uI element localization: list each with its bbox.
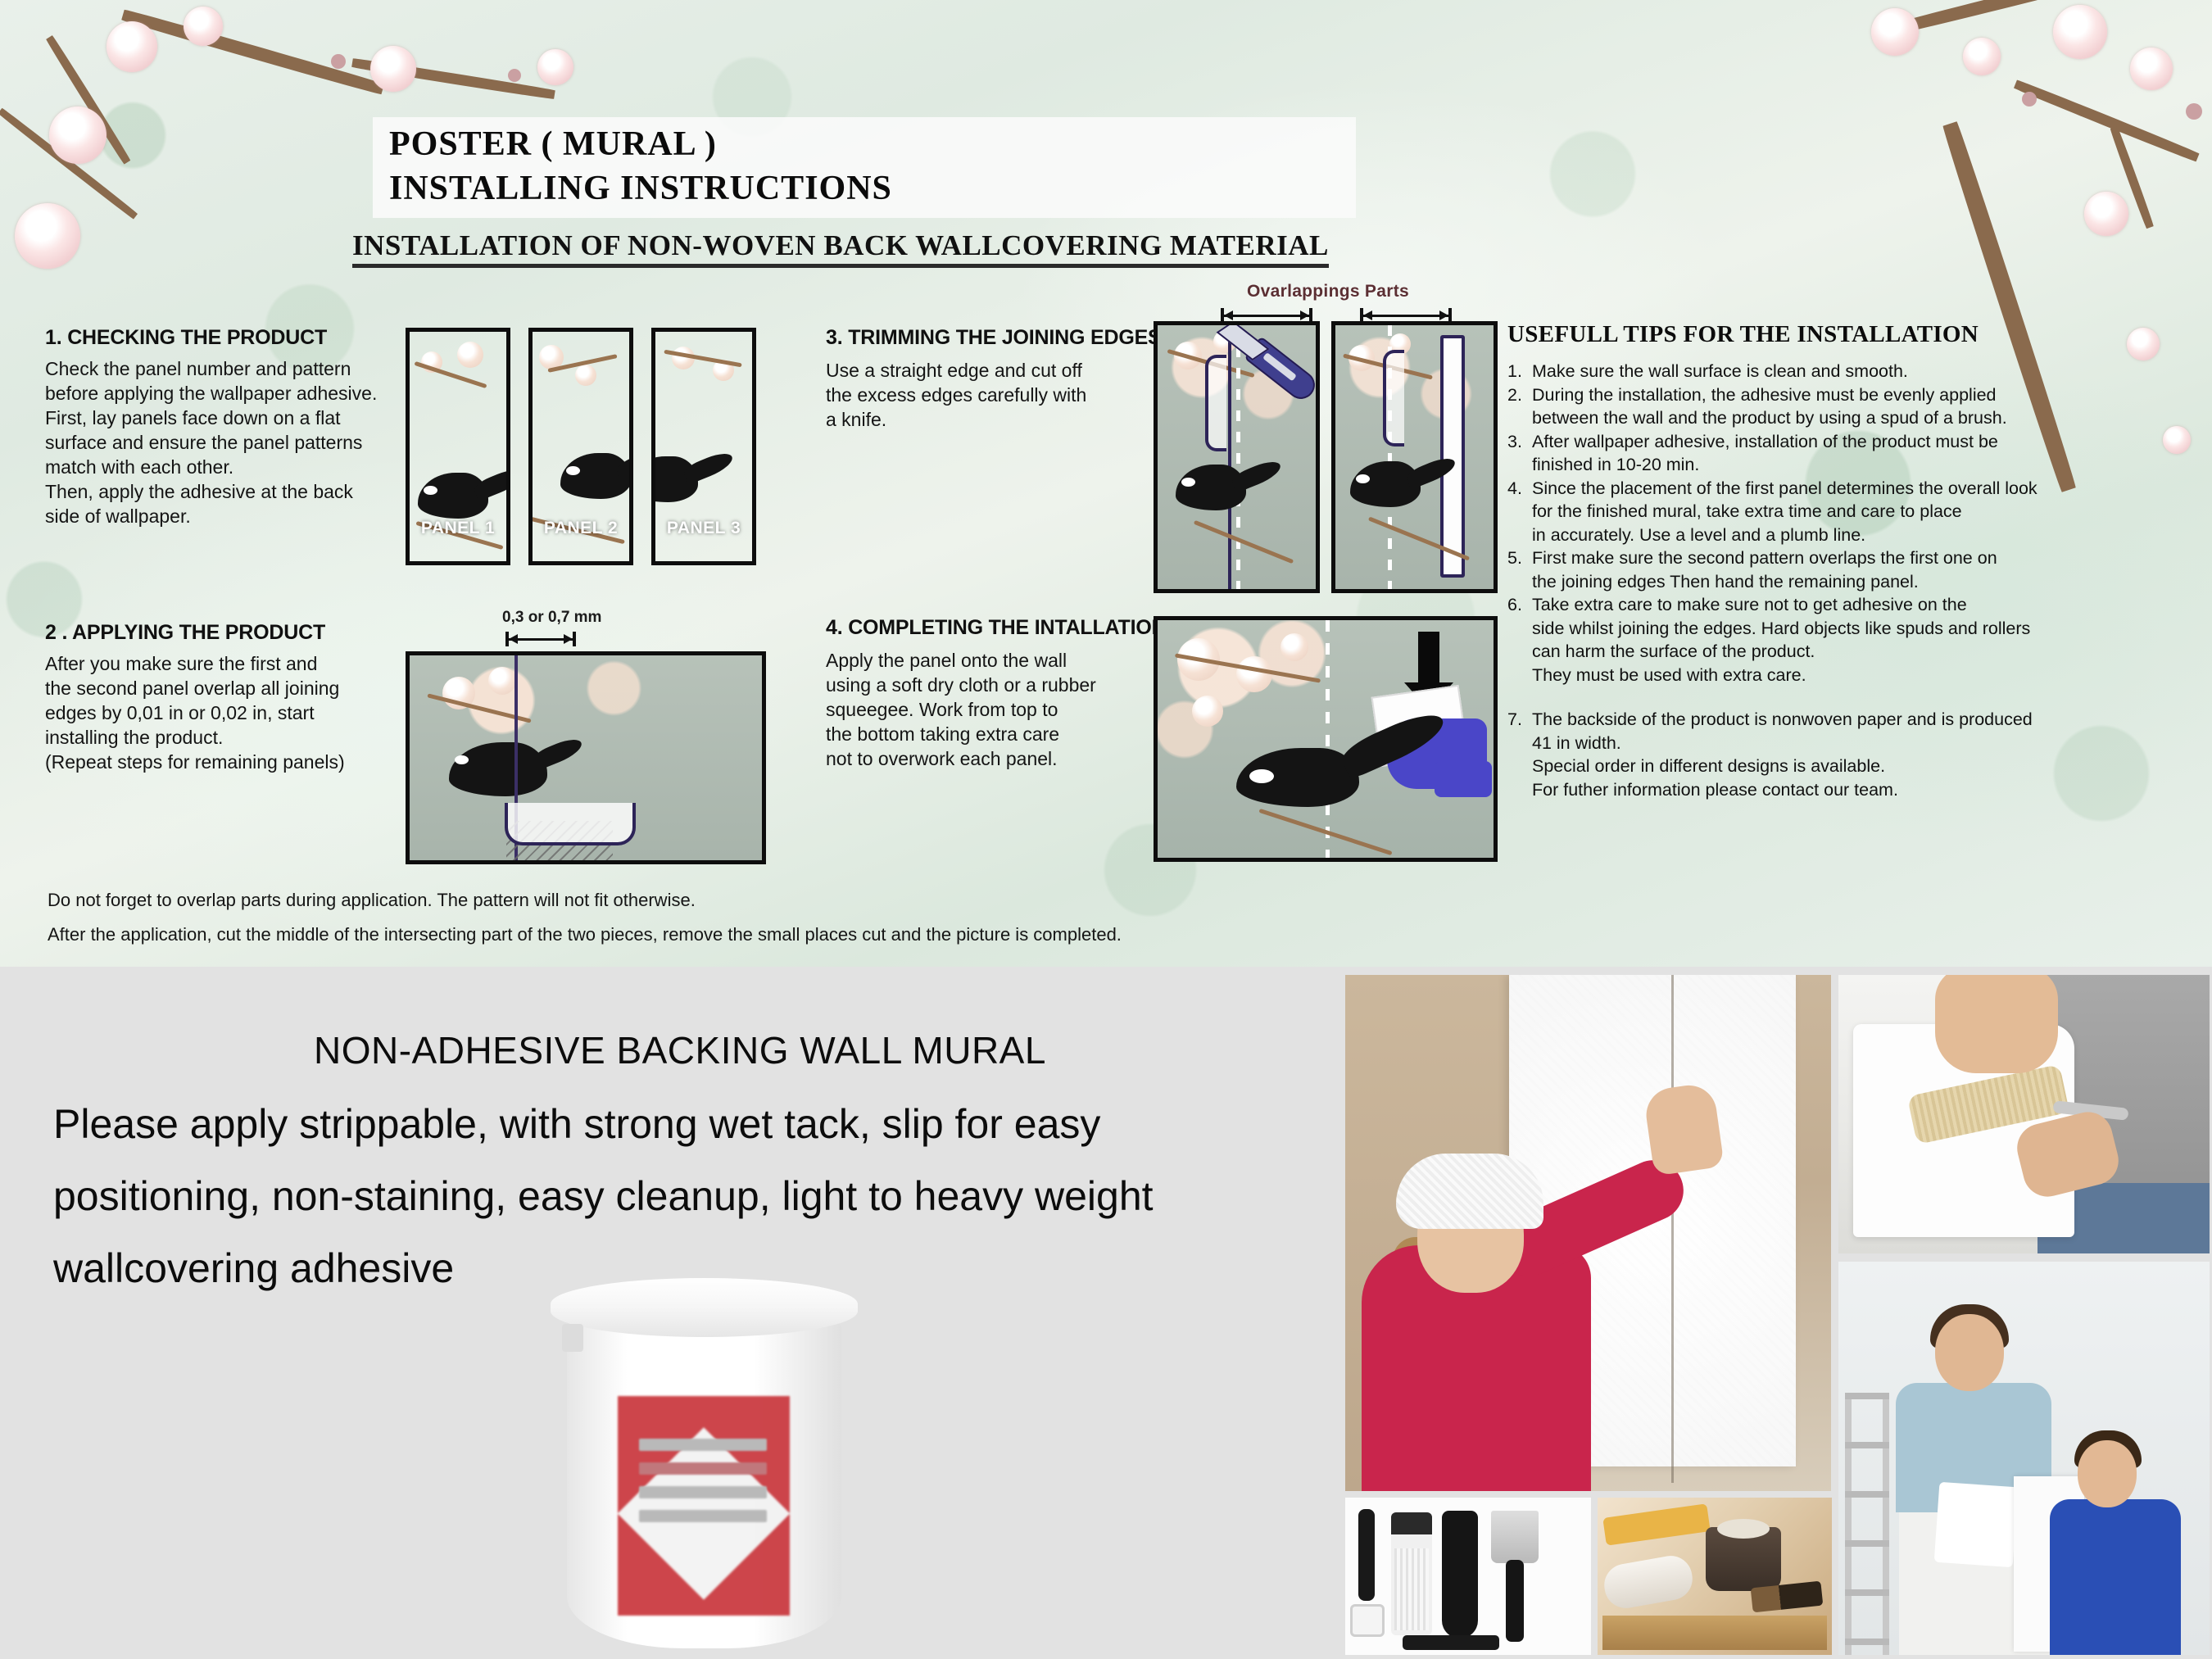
tip-line: Special order in different designs is av… [1532,755,2033,778]
overlapping-parts-label: Ovarlappings Parts [1247,282,1409,301]
cut-line-dashed [1236,325,1240,589]
overlap-dimension-arrow [505,632,576,646]
straight-edge-handle [1383,350,1404,446]
step-2-line-5: (Repeat steps for remaining panels) [45,750,438,774]
step-4-title: 4. COMPLETING THE INTALLATION [826,616,1154,640]
tip-item-3: 3. After wallpaper adhesive, installatio… [1507,430,2179,477]
poster-title-line2: INSTALLING INSTRUCTIONS [389,169,892,208]
step-1-body: Check the panel number and pattern befor… [45,356,438,528]
tip-line: 41 in width. [1532,732,2033,755]
footnote-line-1: Do not forget to overlap parts during ap… [48,883,1522,918]
photo-woman-hanging-lining-paper [1345,975,1831,1491]
photo-wallpaper-tool-set [1345,1498,1591,1655]
tips-title: USEFULL TIPS FOR THE INSTALLATION [1507,321,2179,348]
tip-line: The backside of the product is nonwoven … [1532,708,2033,732]
tip-line: Since the placement of the first panel d… [1532,477,2037,501]
installation-instructions-poster: POSTER ( MURAL ) INSTALLING INSTRUCTIONS… [0,0,2212,1659]
tip-line: After wallpaper adhesive, installation o… [1532,430,1998,454]
step-3-body: Use a straight edge and cut off the exce… [826,358,1154,432]
step-3-trimming-the-joining-edges: 3. TRIMMING THE JOINING EDGES Use a stra… [826,326,1154,432]
straight-edge-line [1228,325,1231,589]
photo-brushes-and-wallpaper-roll [1598,1498,1832,1655]
step-3-title: 3. TRIMMING THE JOINING EDGES [826,326,1154,350]
tip-line: For futher information please contact ou… [1532,778,2033,802]
tip-text: Since the placement of the first panel d… [1532,477,2037,547]
tip-line: Make sure the wall surface is clean and … [1532,360,1908,383]
panel-triptych-figure: PANEL 1 PANEL 2 PANEL 3 [406,328,766,565]
photo-applying-paste-with-roller [1838,975,2210,1253]
step-4-line-4: the bottom taking extra care [826,722,1154,746]
straight-edge-tool [1440,335,1465,578]
step-1-line-6: Then, apply the adhesive at the back [45,479,438,504]
step-1-line-4: surface and ensure the panel patterns [45,430,438,455]
step-1-line-1: Check the panel number and pattern [45,356,438,381]
panel-label-3: PANEL 3 [655,519,752,538]
squeegee-figure [1154,616,1498,862]
step-1-title: 1. CHECKING THE PRODUCT [45,326,438,350]
step-2-line-4: installing the product. [45,725,438,750]
step-1-line-7: side of wallpaper. [45,504,438,528]
step-4-line-2: using a soft dry cloth or a rubber [826,673,1154,697]
bird-illustration [1350,461,1421,507]
tip-number: 5. [1507,546,1532,593]
seam-roller-wheel [1350,1604,1385,1637]
panel-label-1: PANEL 1 [410,519,506,538]
bottom-heading: NON-ADHESIVE BACKING WALL MURAL [314,1028,1046,1072]
step-4-line-1: Apply the panel onto the wall [826,648,1154,673]
seam-roller-icon [1358,1509,1375,1601]
smoothing-brush-icon [1391,1512,1432,1635]
step-2-line-2: the second panel overlap all joining [45,676,438,700]
tip-number: 6. [1507,593,1532,687]
step-3-line-1: Use a straight edge and cut off [826,358,1154,383]
step-1-line-3: First, lay panels face down on a flat [45,406,438,430]
plastic-scraper-icon [1442,1511,1478,1639]
tip-item-1: 1. Make sure the wall surface is clean a… [1507,360,2179,383]
tip-text: After wallpaper adhesive, installation o… [1532,430,1998,477]
panel-card-2: PANEL 2 [528,328,633,565]
overlap-footnote: Do not forget to overlap parts during ap… [48,883,1522,952]
step-4-completing-the-installation: 4. COMPLETING THE INTALLATION Apply the … [826,616,1154,771]
photo-two-people-hanging-wallpaper [1838,1262,2210,1655]
straight-edge-handle [1205,355,1226,451]
useful-tips-section: USEFULL TIPS FOR THE INSTALLATION 1. Mak… [1507,321,2179,801]
tip-line: in accurately. Use a level and a plumb l… [1532,524,2037,547]
seam-dashed-line [1326,620,1330,858]
tip-number: 7. [1507,708,1532,801]
utility-knife-icon [1244,336,1320,404]
tip-number: 4. [1507,477,1532,547]
step-2-line-1: After you make sure the first and [45,651,438,676]
step-2-title: 2 . APPLYING THE PRODUCT [45,621,438,645]
tip-item-6: 6. Take extra care to make sure not to g… [1507,593,2179,687]
step-1-line-5: match with each other. [45,455,438,479]
poster-title-line1: POSTER ( MURAL ) [389,125,717,164]
bottom-copy: Please apply strippable, with strong wet… [53,1088,1331,1304]
tip-line: between the wall and the product by usin… [1532,406,2007,430]
tip-text: Take extra care to make sure not to get … [1532,593,2030,687]
tip-line: can harm the surface of the product. [1532,640,2030,664]
tip-text: The backside of the product is nonwoven … [1532,708,2033,801]
step-1-line-2: before applying the wallpaper adhesive. [45,381,438,406]
tip-number: 2. [1507,383,1532,430]
overlap-panel-illustration [406,651,766,864]
bird-illustration [1236,748,1359,807]
subtitle-wrap: INSTALLATION OF NON-WOVEN BACK WALLCOVER… [352,229,1401,268]
step-2-line-3: edges by 0,01 in or 0,02 in, start [45,700,438,725]
overlap-dimension-label: 0,3 or 0,7 mm [502,609,601,627]
overlap-lip-outline [505,803,636,845]
tip-line: They must be used with extra care. [1532,664,2030,687]
instructions-panel: POSTER ( MURAL ) INSTALLING INSTRUCTIONS… [0,0,2212,967]
tip-text: Make sure the wall surface is clean and … [1532,360,1908,383]
bottom-copy-line-1: Please apply strippable, with strong wet… [53,1088,1331,1160]
step-4-line-5: not to overwork each panel. [826,746,1154,771]
bucket-label-text-lines [639,1439,767,1534]
trim-card-straight-edge [1331,321,1498,593]
tip-line: During the installation, the adhesive mu… [1532,383,2007,407]
tip-number: 3. [1507,430,1532,477]
panel-card-1: PANEL 1 [406,328,510,565]
bottom-copy-line-2: positioning, non-staining, easy cleanup,… [53,1160,1331,1232]
trim-card-knife [1154,321,1320,593]
step-2-body: After you make sure the first and the se… [45,651,438,774]
tip-line: finished in 10-20 min. [1532,453,1998,477]
tip-item-7: 7. The backside of the product is nonwov… [1507,708,2179,801]
tip-text: During the installation, the adhesive mu… [1532,383,2007,430]
tip-item-2: 2. During the installation, the adhesive… [1507,383,2179,430]
footnote-line-2: After the application, cut the middle of… [48,918,1522,952]
tip-item-4: 4. Since the placement of the first pane… [1507,477,2179,547]
step-2-applying-the-product: 2 . APPLYING THE PRODUCT After you make … [45,621,438,774]
snap-off-knife-icon [1403,1635,1499,1650]
trimming-figure [1154,321,1498,593]
panel-label-2: PANEL 2 [533,519,629,538]
step-3-line-3: a knife. [826,407,1154,432]
poster-subtitle: INSTALLATION OF NON-WOVEN BACK WALLCOVER… [352,229,1329,268]
overlap-dimension-figure: 0,3 or 0,7 mm [406,610,766,864]
bird-illustration [1176,465,1246,510]
bucket-lid [551,1278,858,1337]
step-1-checking-the-product: 1. CHECKING THE PRODUCT Check the panel … [45,326,438,528]
putty-knife-blade [1491,1511,1539,1563]
tip-line: the joining edges Then hand the remainin… [1532,570,1997,594]
panel-card-3: PANEL 3 [651,328,756,565]
bucket-lid-tab [562,1324,583,1352]
tip-line: First make sure the second pattern overl… [1532,546,1997,570]
adhesive-promo-panel: NON-ADHESIVE BACKING WALL MURAL Please a… [0,967,2212,1659]
step-3-line-2: the excess edges carefully with [826,383,1154,407]
tip-line: Take extra care to make sure not to get … [1532,593,2030,617]
tip-line: for the finished mural, take extra time … [1532,500,2037,524]
tip-line: side whilst joining the edges. Hard obje… [1532,617,2030,641]
putty-knife-handle [1506,1560,1524,1642]
tip-item-5: 5. First make sure the second pattern ov… [1507,546,2179,593]
step-4-line-3: squeegee. Work from top to [826,697,1154,722]
tip-text: First make sure the second pattern overl… [1532,546,1997,593]
photo-collage [1345,975,2210,1655]
step-4-body: Apply the panel onto the wall using a so… [826,648,1154,771]
tip-number: 1. [1507,360,1532,383]
tips-list: 1. Make sure the wall surface is clean a… [1507,360,2179,801]
downward-arrow-icon [1418,632,1439,682]
adhesive-bucket [551,1278,858,1655]
